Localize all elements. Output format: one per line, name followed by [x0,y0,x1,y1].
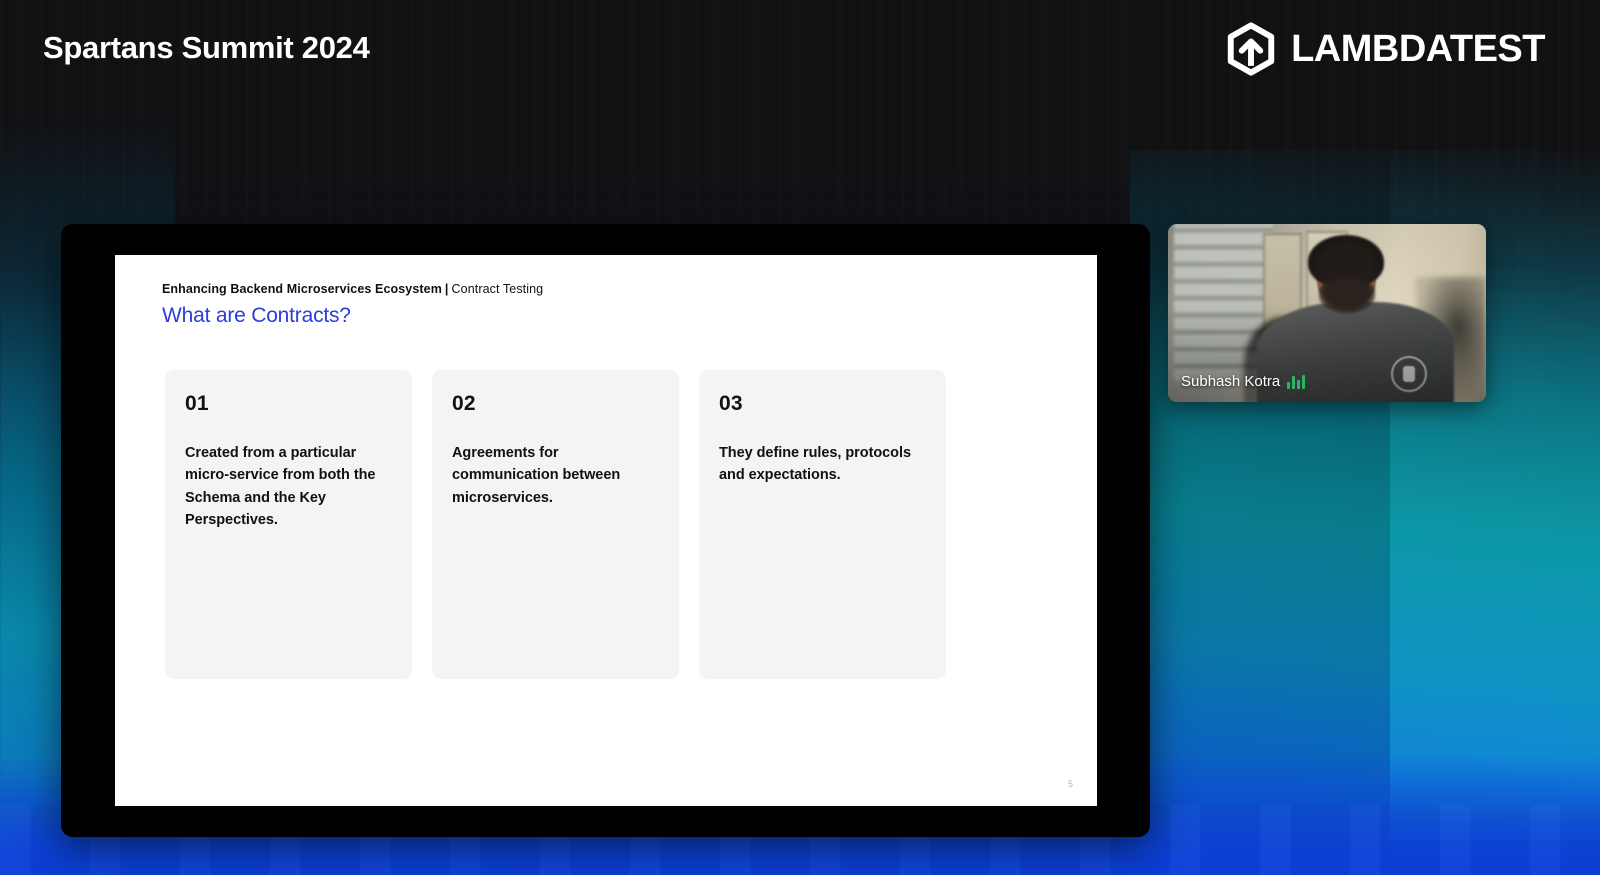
audio-level-meter-icon [1287,374,1305,389]
page-header: Spartans Summit 2024 LAMBDATEST [0,0,1600,110]
event-title: Spartans Summit 2024 [43,30,370,66]
participant-name: Subhash Kotra [1181,373,1280,390]
slide-title: What are Contracts? [162,304,351,328]
audio-bar [1292,376,1295,389]
audio-bar [1287,382,1290,389]
slide-kicker-separator: | [445,282,449,296]
lambdatest-logo: LAMBDATEST [1224,22,1545,76]
card-number: 02 [452,392,659,416]
lambdatest-hexagon-arrow-icon [1224,22,1278,76]
card-text: Agreements for communication between mic… [452,442,659,509]
participant-video-tile[interactable]: Subhash Kotra [1168,224,1486,402]
slide-kicker: Enhancing Backend Microservices Ecosyste… [162,282,543,296]
participant-nameplate: Subhash Kotra [1181,373,1305,390]
slide-page-number: 5 [1068,779,1073,789]
audio-bar [1297,380,1300,389]
slide-card-group: 01 Created from a particular micro-servi… [165,370,946,679]
presentation-slide: Enhancing Backend Microservices Ecosyste… [115,255,1097,806]
lambdatest-wordmark: LAMBDATEST [1291,30,1545,68]
audio-bar [1302,375,1305,389]
card-number: 03 [719,392,926,416]
slide-kicker-bold: Enhancing Backend Microservices Ecosyste… [162,282,442,296]
card-number: 01 [185,392,392,416]
card-text: They define rules, protocols and expecta… [719,442,926,487]
slide-card: 02 Agreements for communication between … [432,370,679,679]
slide-card: 01 Created from a particular micro-servi… [165,370,412,679]
slide-kicker-regular: Contract Testing [452,282,544,296]
slide-share-frame[interactable]: Enhancing Backend Microservices Ecosyste… [61,224,1150,837]
card-text: Created from a particular micro-service … [185,442,392,532]
slide-card: 03 They define rules, protocols and expe… [699,370,946,679]
